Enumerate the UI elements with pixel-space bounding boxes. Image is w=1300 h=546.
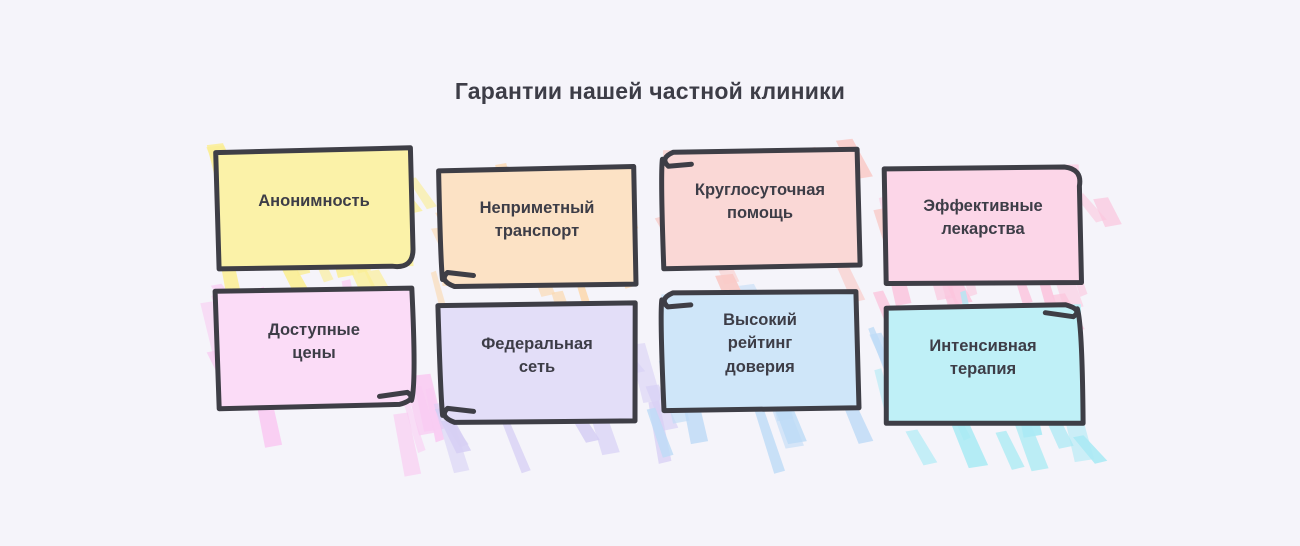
card-sketch bbox=[421, 288, 653, 438]
guarantee-card-affordable-prices: Доступные цены bbox=[198, 274, 430, 424]
card-sketch bbox=[198, 134, 430, 284]
card-sketch bbox=[867, 150, 1099, 300]
card-grid: АнонимностьНеприметный транспортКруглосу… bbox=[0, 0, 1300, 546]
highlighter-streak bbox=[502, 420, 531, 473]
card-body bbox=[216, 149, 413, 268]
highlighter-streak bbox=[906, 430, 938, 466]
card-body bbox=[885, 304, 1082, 424]
highlighter-streak bbox=[952, 424, 988, 468]
card-body bbox=[215, 288, 413, 409]
guarantee-card-effective-medicines: Эффективные лекарства bbox=[867, 150, 1099, 300]
guarantee-card-round-the-clock-help: Круглосуточная помощь bbox=[644, 134, 876, 284]
card-sketch bbox=[867, 290, 1099, 440]
card-sketch bbox=[421, 152, 653, 302]
card-sketch bbox=[644, 134, 876, 284]
guarantee-card-anonymity: Анонимность bbox=[198, 134, 430, 284]
infographic-canvas: Гарантии нашей частной клиники Анонимнос… bbox=[0, 0, 1300, 546]
card-body bbox=[661, 290, 860, 409]
card-body bbox=[440, 167, 636, 286]
card-body bbox=[438, 302, 635, 421]
guarantee-card-intensive-therapy: Интенсивная терапия bbox=[867, 290, 1099, 440]
guarantee-card-federal-network: Федеральная сеть bbox=[421, 288, 653, 438]
card-sketch bbox=[198, 274, 430, 424]
guarantee-card-high-trust-rating: Высокий рейтинг доверия bbox=[644, 276, 876, 426]
card-sketch bbox=[644, 276, 876, 426]
guarantee-card-discreet-transport: Неприметный транспорт bbox=[421, 152, 653, 302]
card-body bbox=[886, 164, 1083, 285]
